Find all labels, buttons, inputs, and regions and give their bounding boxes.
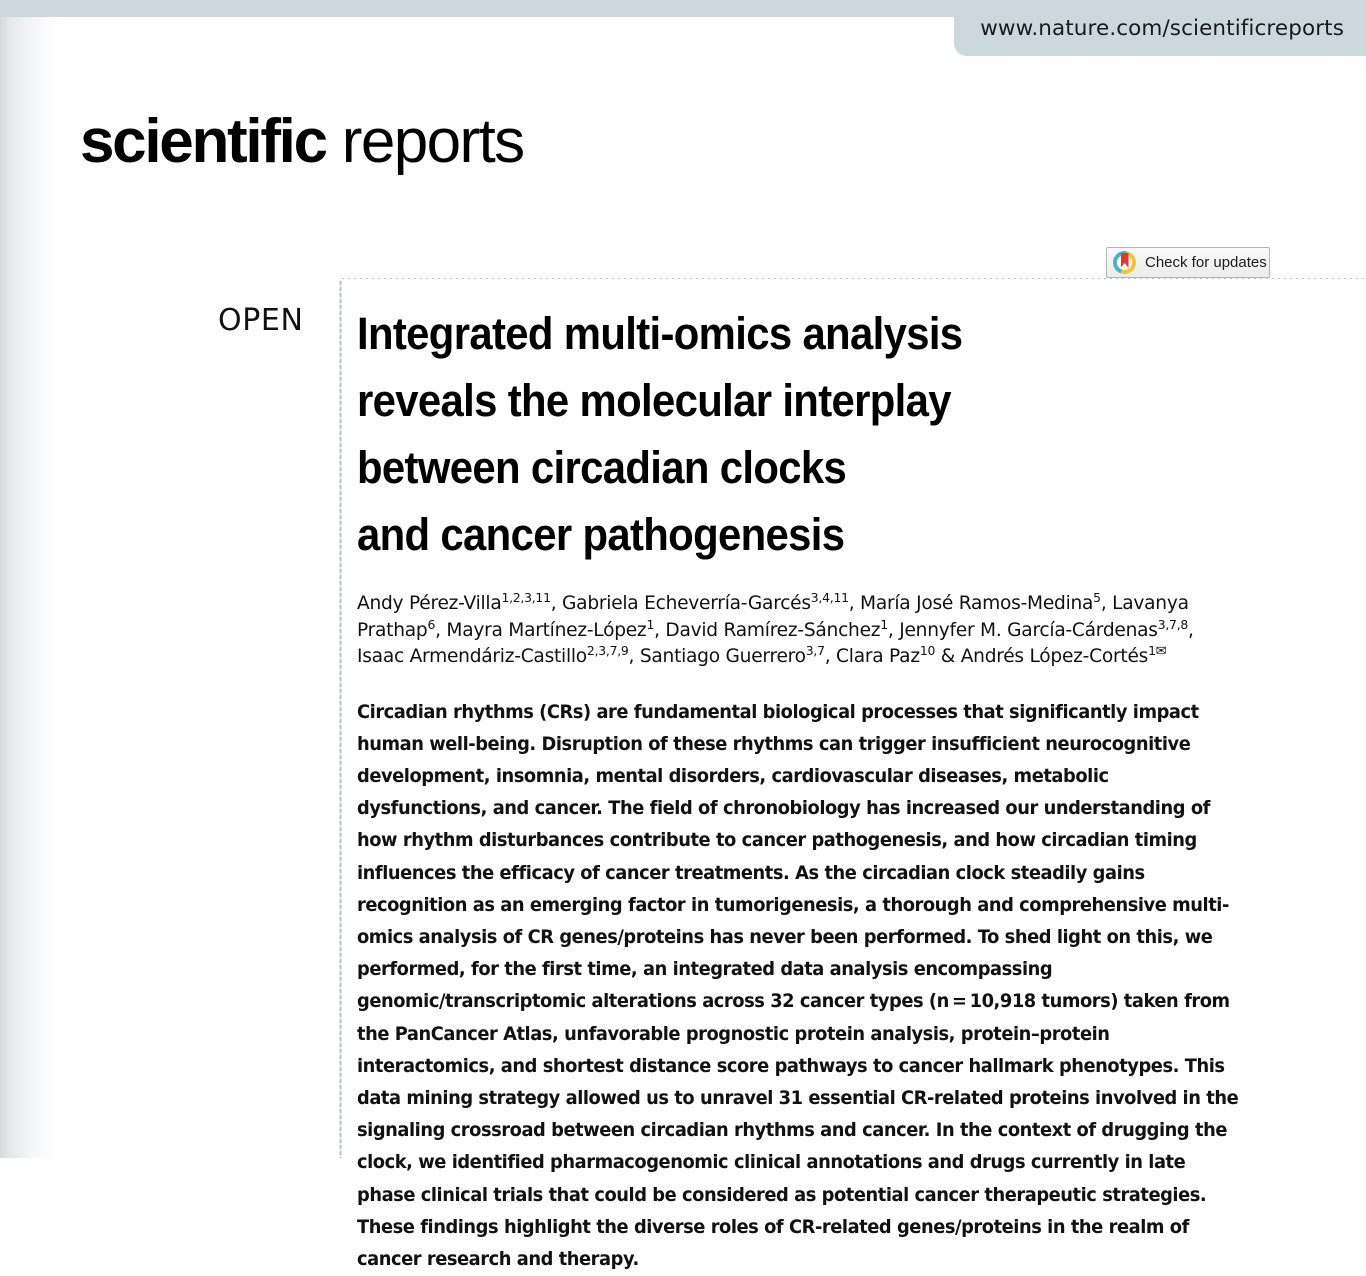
- journal-masthead: scientific reports: [80, 106, 524, 177]
- author-list: Andy Pérez-Villa1,2,3,11, Gabriela Echev…: [357, 591, 1237, 671]
- open-access-label: OPEN: [218, 303, 304, 338]
- vertical-dotted-rule: [339, 280, 342, 1158]
- crossmark-icon: [1113, 251, 1136, 274]
- article-block: Integrated multi-omics analysis reveals …: [357, 300, 1269, 1276]
- check-for-updates-button[interactable]: Check for updates: [1106, 247, 1270, 278]
- page-title: Integrated multi-omics analysis reveals …: [357, 300, 1205, 568]
- masthead-word-scientific: scientific: [80, 106, 326, 177]
- journal-url-banner: www.nature.com/scientificreports: [954, 0, 1366, 56]
- check-for-updates-label: Check for updates: [1145, 254, 1267, 271]
- masthead-word-reports: reports: [342, 106, 524, 177]
- abstract-text: Circadian rhythms (CRs) are fundamental …: [357, 697, 1242, 1276]
- horizontal-dotted-rule: [340, 277, 1366, 280]
- page-edge-shadow: [0, 0, 62, 1158]
- journal-url-text: www.nature.com/scientificreports: [980, 16, 1344, 41]
- page-canvas: www.nature.com/scientificreports scienti…: [0, 0, 1366, 1158]
